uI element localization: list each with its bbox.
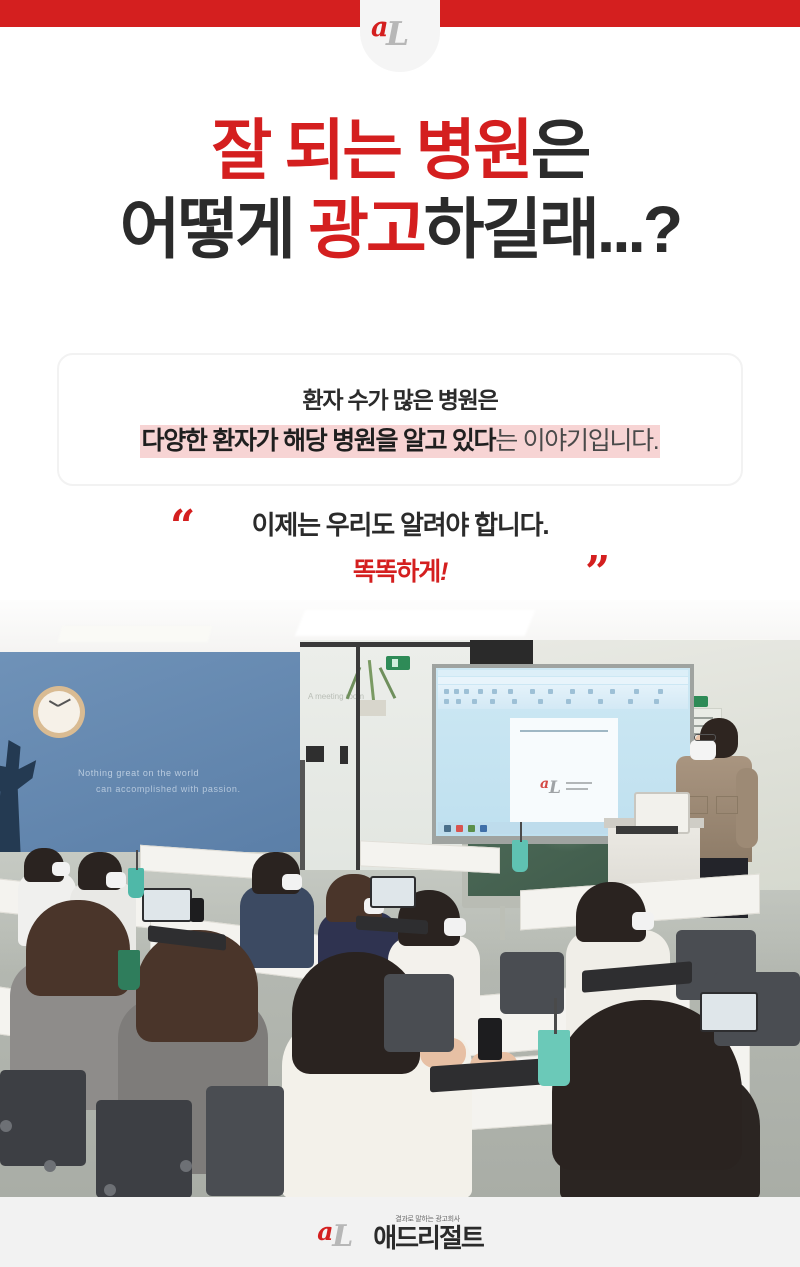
ceiling-light [295, 610, 536, 636]
door-handle [340, 746, 348, 764]
ceiling-light [58, 626, 213, 642]
taskbar-icon [456, 825, 463, 832]
footer-brand-lockup: a L 결과로 말하는 광고회사 애드리절트 [317, 1214, 483, 1251]
attendee-face-mask [444, 918, 466, 936]
ad-result-logo-icon: a L [369, 14, 431, 54]
tablet-screen [142, 888, 192, 922]
document-page [510, 718, 618, 828]
quote-line-1: 이제는 우리도 알려야 합니다. [0, 505, 800, 542]
headline: 잘 되는 병원은 어떻게 광고하길래...? [0, 118, 800, 261]
slide-logo-a: a [540, 776, 549, 792]
attendee-face-mask [106, 872, 126, 888]
slide-text-line [566, 788, 588, 790]
headline-line-1: 잘 되는 병원은 [0, 118, 800, 183]
subtitle-line2-strong: 다양한 환자가 해당 병원을 알고 있다 [142, 427, 496, 455]
document-rule [520, 730, 608, 732]
headline-line2-dark-b: 하길래...? [424, 192, 681, 266]
presenter-arm [736, 768, 758, 848]
coffee-tumbler [118, 950, 140, 990]
headline-line2-dark-a: 어떻게 [120, 192, 309, 266]
attendee-face-mask [52, 862, 70, 876]
quote-block: “ 이제는 우리도 알려야 합니다. 똑똑하게! ” [0, 497, 800, 597]
taskbar-icon [480, 825, 487, 832]
footer: a L 결과로 말하는 광고회사 애드리절트 [0, 1197, 800, 1267]
plant-pot [356, 700, 386, 716]
logo-letter-a: a [371, 14, 389, 41]
promo-poster: a L 잘 되는 병원은 어떻게 광고하길래...? 환자 수가 많은 병원은 … [0, 0, 800, 1267]
app-toolbar-ribbon [438, 685, 688, 709]
iced-coffee-cup [538, 1030, 570, 1086]
straw [554, 998, 557, 1034]
presenter-face-mask [690, 740, 716, 760]
partition-frame [356, 644, 360, 870]
presenter-pocket [716, 796, 738, 814]
tablet-screen [370, 876, 416, 908]
chair-backrest [384, 974, 454, 1052]
exit-sign-icon [386, 656, 410, 670]
headline-line2-red: 광고 [308, 192, 423, 266]
app-menubar [438, 677, 688, 684]
tablet-screen [700, 992, 758, 1032]
chair-caster [180, 1160, 192, 1172]
wall-panel [306, 746, 324, 762]
chair-caster [44, 1160, 56, 1172]
attendee-face-mask [632, 912, 654, 930]
presenter-glasses-icon [694, 734, 716, 741]
wall-text-line-2: can accomplished with passion. [96, 784, 241, 794]
subtitle-card: 환자 수가 많은 병원은 다양한 환자가 해당 병원을 알고 있다는 이야기입니… [57, 353, 743, 486]
chair [96, 1100, 192, 1197]
smartphone [190, 898, 204, 922]
quote-close-icon: ” [585, 551, 610, 595]
brand-logo-badge: a L [360, 0, 440, 72]
app-titlebar [438, 670, 688, 676]
slide-text-line [566, 782, 592, 784]
taskbar-icon [468, 825, 475, 832]
footer-logo-letter-l: L [332, 1222, 353, 1252]
footer-logo-icon: a L [317, 1217, 369, 1251]
iced-coffee-cup [128, 868, 144, 898]
headline-line1-red: 잘 되는 병원 [211, 113, 530, 187]
straw [520, 822, 522, 842]
blue-wall [0, 652, 300, 852]
headline-line1-dark: 은 [531, 113, 589, 187]
wall-clock-face [38, 691, 80, 733]
chalkboard-leg [500, 906, 505, 940]
subtitle-line-2: 다양한 환자가 해당 병원을 알고 있다는 이야기입니다. [140, 425, 661, 458]
logo-letter-l: L [386, 17, 409, 50]
straw [136, 850, 138, 870]
chair-backrest [206, 1086, 284, 1196]
quote-line2-text: 똑똑하게 [353, 558, 440, 586]
seminar-photo: Nothing great on the world can accomplis… [0, 600, 800, 1197]
footer-text-column: 결과로 말하는 광고회사 애드리절트 [373, 1214, 483, 1251]
podium-keyboard [616, 826, 678, 834]
footer-tagline: 결과로 말하는 광고회사 [395, 1214, 460, 1224]
subtitle-line-1: 환자 수가 많은 병원은 [302, 381, 497, 415]
subtitle-line2-weak: 는 이야기입니다. [495, 427, 658, 455]
chair-caster [0, 1120, 12, 1132]
taskbar-icon [444, 825, 451, 832]
attendee-hair [26, 900, 130, 996]
smartphone [478, 1018, 502, 1060]
wall-text-line-1: Nothing great on the world [78, 768, 199, 778]
slide-logo-l: L [549, 778, 561, 798]
headline-line-2: 어떻게 광고하길래...? [0, 197, 800, 262]
iced-coffee-cup [512, 840, 528, 872]
door-frame [300, 760, 305, 870]
footer-company-name: 애드리절트 [373, 1225, 483, 1251]
footer-logo-letter-a: a [317, 1219, 333, 1244]
chair-caster [104, 1184, 116, 1196]
chair [0, 1070, 86, 1166]
quote-line-2: 똑똑하게! [0, 552, 800, 588]
attendee-body [240, 886, 314, 968]
quote-line2-exclamation: ! [440, 558, 447, 586]
attendee-face-mask [282, 874, 302, 890]
